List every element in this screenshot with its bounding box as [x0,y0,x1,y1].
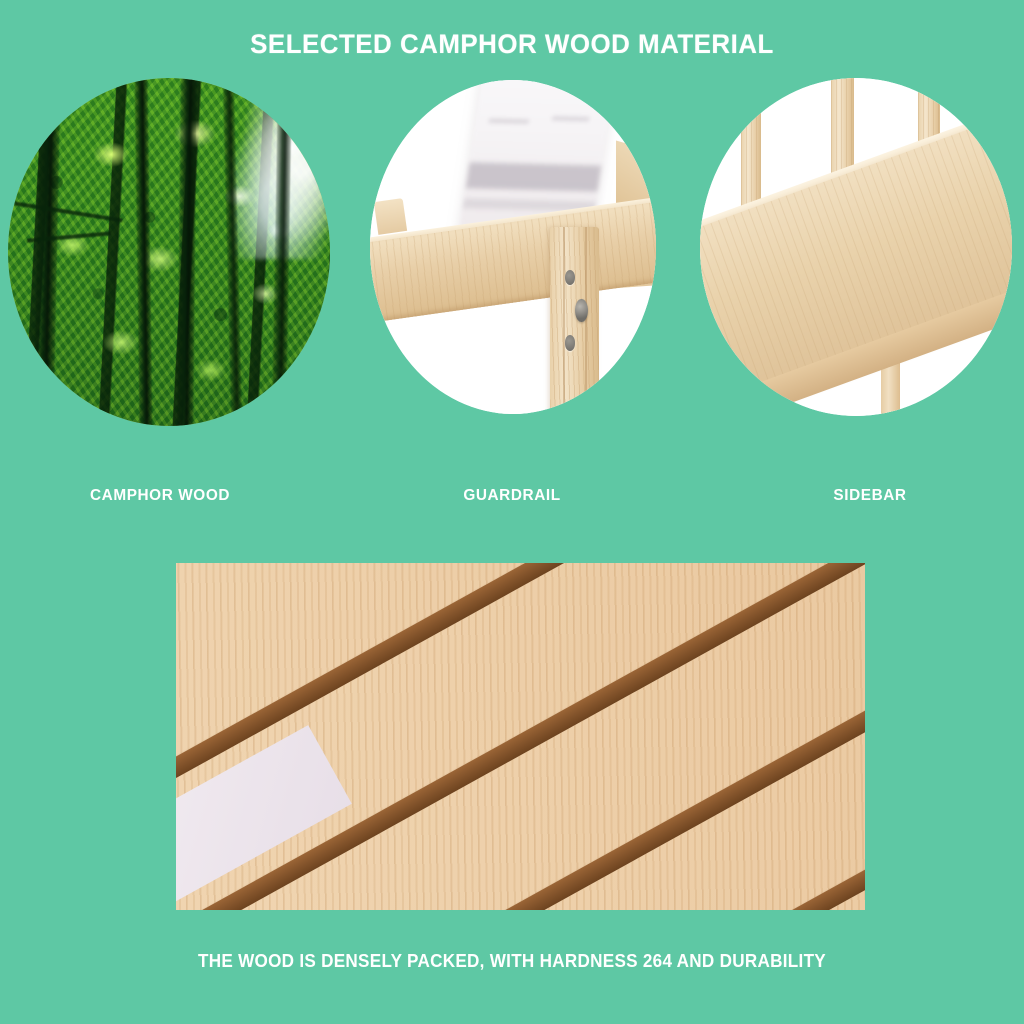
screw-hole [565,335,576,350]
sidebar-closeup-image [700,78,1012,416]
main-photo-caption: THE WOOD IS DENSELY PACKED, WITH HARDNES… [26,951,999,972]
product-infographic: SELECTED CAMPHOR WOOD MATERIAL [0,0,1024,1024]
feature-circle-row [0,78,1024,430]
tree-trunk [177,78,197,426]
forest-canopy-image [8,78,330,426]
book-cover-accent [575,80,593,88]
page-title: SELECTED CAMPHOR WOOD MATERIAL [20,29,1003,60]
tree-trunk [33,78,61,426]
guardrail-post [550,227,599,414]
feature-label-sidebar: SIDEBAR [833,487,906,505]
wood-boards-photo [176,563,865,910]
screw-cap [575,299,588,322]
feature-label-camphor-wood: CAMPHOR WOOD [90,487,230,505]
tree-trunk [134,78,152,426]
feature-image-camphor-wood [8,78,330,426]
feature-image-guardrail [370,80,656,414]
guardrail-closeup-image [370,80,656,414]
feature-image-sidebar [700,78,1012,416]
feature-label-guardrail: GUARDRAIL [463,487,560,505]
post-seam [585,227,587,414]
book-title-band [466,162,601,191]
tree-branch [15,202,124,223]
board-stack [176,563,865,910]
screw-hole [565,270,576,285]
post-seam [563,227,565,414]
rail-end-cap [374,198,407,235]
book-text-line [489,119,529,124]
book-text-line [552,116,589,121]
